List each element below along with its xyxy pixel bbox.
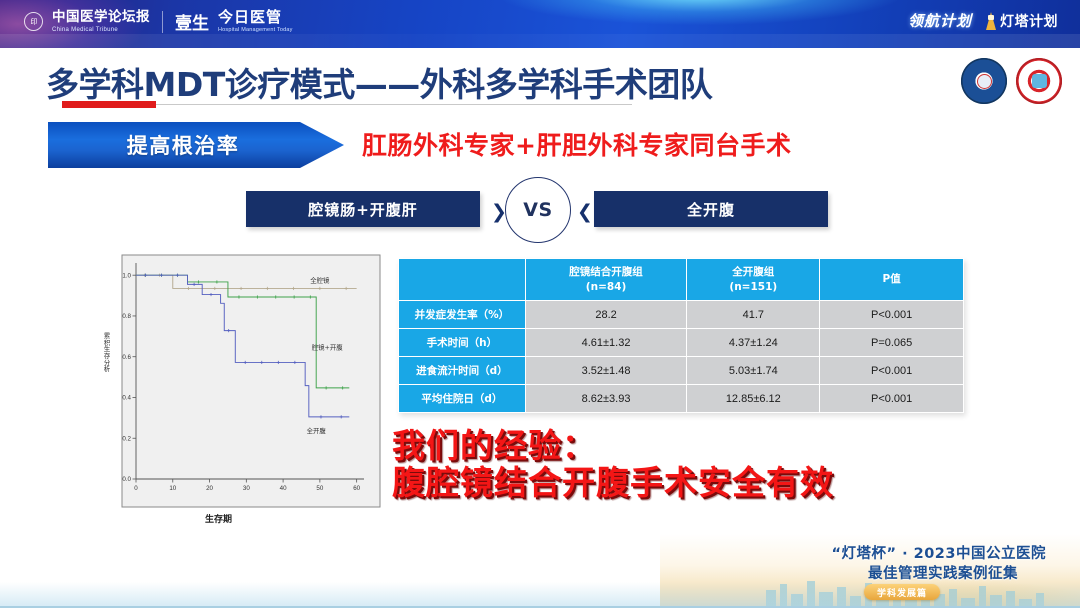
top-header-bar: 印 中国医学论坛报 China Medical Tribune 壹生 今日医管 … xyxy=(0,0,1080,48)
svg-text:30: 30 xyxy=(243,485,250,492)
hmt-logo-en: Hospital Management Today xyxy=(218,28,293,34)
svg-text:60: 60 xyxy=(353,485,360,492)
svg-text:全腔镜: 全腔镜 xyxy=(310,275,330,284)
table-header: 腔镜结合开腹组 (n=84) 全开腹组 (n=151) P值 xyxy=(399,259,964,301)
row-label: 平均住院日（d） xyxy=(399,385,526,413)
footer-title-line1: “灯塔杯” · 2023中国公立医院 xyxy=(831,542,1046,563)
yisheng-logo: 壹生 xyxy=(175,9,209,34)
footer-title-line2: 最佳管理实践案例征集 xyxy=(868,562,1018,583)
cell-group1: 4.61±1.32 xyxy=(525,329,687,357)
cmt-logo-en: China Medical Tribune xyxy=(52,27,150,33)
row-label: 并发症发生率（%） xyxy=(399,301,526,329)
hospital-emblem-blue-icon xyxy=(961,58,1007,104)
table-body: 并发症发生率（%） 28.2 41.7 P<0.001 手术时间（h） 4.61… xyxy=(399,301,964,413)
cell-group2: 12.85±6.12 xyxy=(687,385,820,413)
hmt-logo-cn: 今日医管 xyxy=(218,10,293,25)
col-header-group2: 全开腹组 (n=151) xyxy=(687,259,820,301)
col-header-group1-line1: 腔镜结合开腹组 xyxy=(526,265,687,279)
svg-text:0.0: 0.0 xyxy=(122,476,131,483)
chart-y-axis-label: 累积生存分析 xyxy=(101,333,113,373)
row-label: 进食流汁时间（d） xyxy=(399,357,526,385)
chevron-right-icon: ❯ xyxy=(491,201,507,224)
dengta-label: 灯塔计划 xyxy=(1000,11,1058,31)
table-header-row: 腔镜结合开腹组 (n=84) 全开腹组 (n=151) P值 xyxy=(399,259,964,301)
cell-pvalue: P<0.001 xyxy=(820,357,964,385)
svg-text:0.6: 0.6 xyxy=(122,354,131,361)
table-row: 手术时间（h） 4.61±1.32 4.37±1.24 P=0.065 xyxy=(399,329,964,357)
svg-text:0.8: 0.8 xyxy=(122,313,131,320)
cell-group1: 8.62±3.93 xyxy=(525,385,687,413)
china-medical-tribune-logo: 中国医学论坛报 China Medical Tribune xyxy=(52,11,150,33)
hospital-emblems xyxy=(961,58,1062,104)
cell-pvalue: P=0.065 xyxy=(820,329,964,357)
cmt-logo-cn: 中国医学论坛报 xyxy=(52,11,150,25)
cell-group1: 3.52±1.48 xyxy=(525,357,687,385)
cell-group2: 5.03±1.74 xyxy=(687,357,820,385)
title-underline xyxy=(62,101,632,108)
red-headline: 肛肠外科专家+肝胆外科专家同台手术 xyxy=(362,126,791,162)
col-header-group2-line2: (n=151) xyxy=(687,280,819,294)
cell-group2: 41.7 xyxy=(687,301,820,329)
chevron-left-icon: ❮ xyxy=(577,201,593,224)
svg-text:40: 40 xyxy=(280,485,287,492)
slide-root: 印 中国医学论坛报 China Medical Tribune 壹生 今日医管 … xyxy=(0,0,1080,608)
cell-pvalue: P<0.001 xyxy=(820,301,964,329)
arrow-banner-shape: 提高根治率 xyxy=(48,122,344,168)
svg-text:50: 50 xyxy=(316,485,323,492)
footer-category-badge: 学科发展篇 xyxy=(864,584,940,600)
table-row: 平均住院日（d） 8.62±3.93 12.85±6.12 P<0.001 xyxy=(399,385,964,413)
conclusion-line-1: 我们的经验： xyxy=(392,428,834,465)
conclusion-block: 我们的经验： 腹腔镜结合开腹手术安全有效 xyxy=(392,428,834,502)
table-row: 并发症发生率（%） 28.2 41.7 P<0.001 xyxy=(399,301,964,329)
seal-icon: 印 xyxy=(24,12,43,31)
svg-text:0.2: 0.2 xyxy=(122,435,131,442)
survival-chart: 0.00.20.40.60.81.00102030405060全腔镜腔镜+开腹全… xyxy=(100,250,392,530)
hospital-emblem-red-icon xyxy=(1016,58,1062,104)
col-header-pvalue: P值 xyxy=(820,259,964,301)
linghang-plan-logo: 领航计划 xyxy=(908,10,972,31)
title-underline-accent xyxy=(62,101,156,108)
header-left-logos: 印 中国医学论坛报 China Medical Tribune 壹生 今日医管 … xyxy=(24,9,293,34)
conclusion-line-2: 腹腔镜结合开腹手术安全有效 xyxy=(392,465,834,502)
svg-text:1.0: 1.0 xyxy=(122,272,131,279)
cell-pvalue: P<0.001 xyxy=(820,385,964,413)
header-right-logos: 领航计划 灯塔计划 xyxy=(908,10,1058,31)
footer-bar: “灯塔杯” · 2023中国公立医院 最佳管理实践案例征集 学科发展篇 xyxy=(0,534,1080,608)
col-header-group1-line2: (n=84) xyxy=(526,280,687,294)
comparison-left-box: 腔镜肠+开腹肝 xyxy=(246,191,480,227)
vs-circle: VS xyxy=(505,177,571,243)
svg-text:腔镜+开腹: 腔镜+开腹 xyxy=(312,343,344,352)
comparison-row: 腔镜肠+开腹肝 ❯ VS ❮ 全开腹 xyxy=(246,191,828,227)
comparison-right-box: 全开腹 xyxy=(594,191,828,227)
svg-text:10: 10 xyxy=(169,485,176,492)
svg-text:0: 0 xyxy=(134,485,138,492)
results-table: 腔镜结合开腹组 (n=84) 全开腹组 (n=151) P值 并发症发生率（%）… xyxy=(398,258,964,413)
header-divider xyxy=(162,11,163,33)
cell-group1: 28.2 xyxy=(525,301,687,329)
vs-label: VS xyxy=(523,199,552,221)
title-underline-line xyxy=(156,104,632,105)
survival-chart-svg: 0.00.20.40.60.81.00102030405060全腔镜腔镜+开腹全… xyxy=(100,250,392,530)
row-label: 手术时间（h） xyxy=(399,329,526,357)
svg-text:20: 20 xyxy=(206,485,213,492)
page-title: 多学科MDT诊疗模式——外科多学科手术团队 xyxy=(46,58,712,106)
arrow-banner: 提高根治率 xyxy=(48,122,344,168)
lighthouse-icon xyxy=(986,12,996,30)
dengta-plan-logo: 灯塔计划 xyxy=(986,11,1058,31)
svg-text:0.4: 0.4 xyxy=(122,395,131,402)
table-row: 进食流汁时间（d） 3.52±1.48 5.03±1.74 P<0.001 xyxy=(399,357,964,385)
chart-x-axis-label: 生存期 xyxy=(205,512,232,525)
arrow-banner-label: 提高根治率 xyxy=(127,130,266,160)
col-header-blank xyxy=(399,259,526,301)
hospital-management-today-logo: 今日医管 Hospital Management Today xyxy=(218,10,293,34)
svg-text:全开腹: 全开腹 xyxy=(307,426,327,435)
col-header-group1: 腔镜结合开腹组 (n=84) xyxy=(525,259,687,301)
cell-group2: 4.37±1.24 xyxy=(687,329,820,357)
col-header-group2-line1: 全开腹组 xyxy=(687,265,819,279)
